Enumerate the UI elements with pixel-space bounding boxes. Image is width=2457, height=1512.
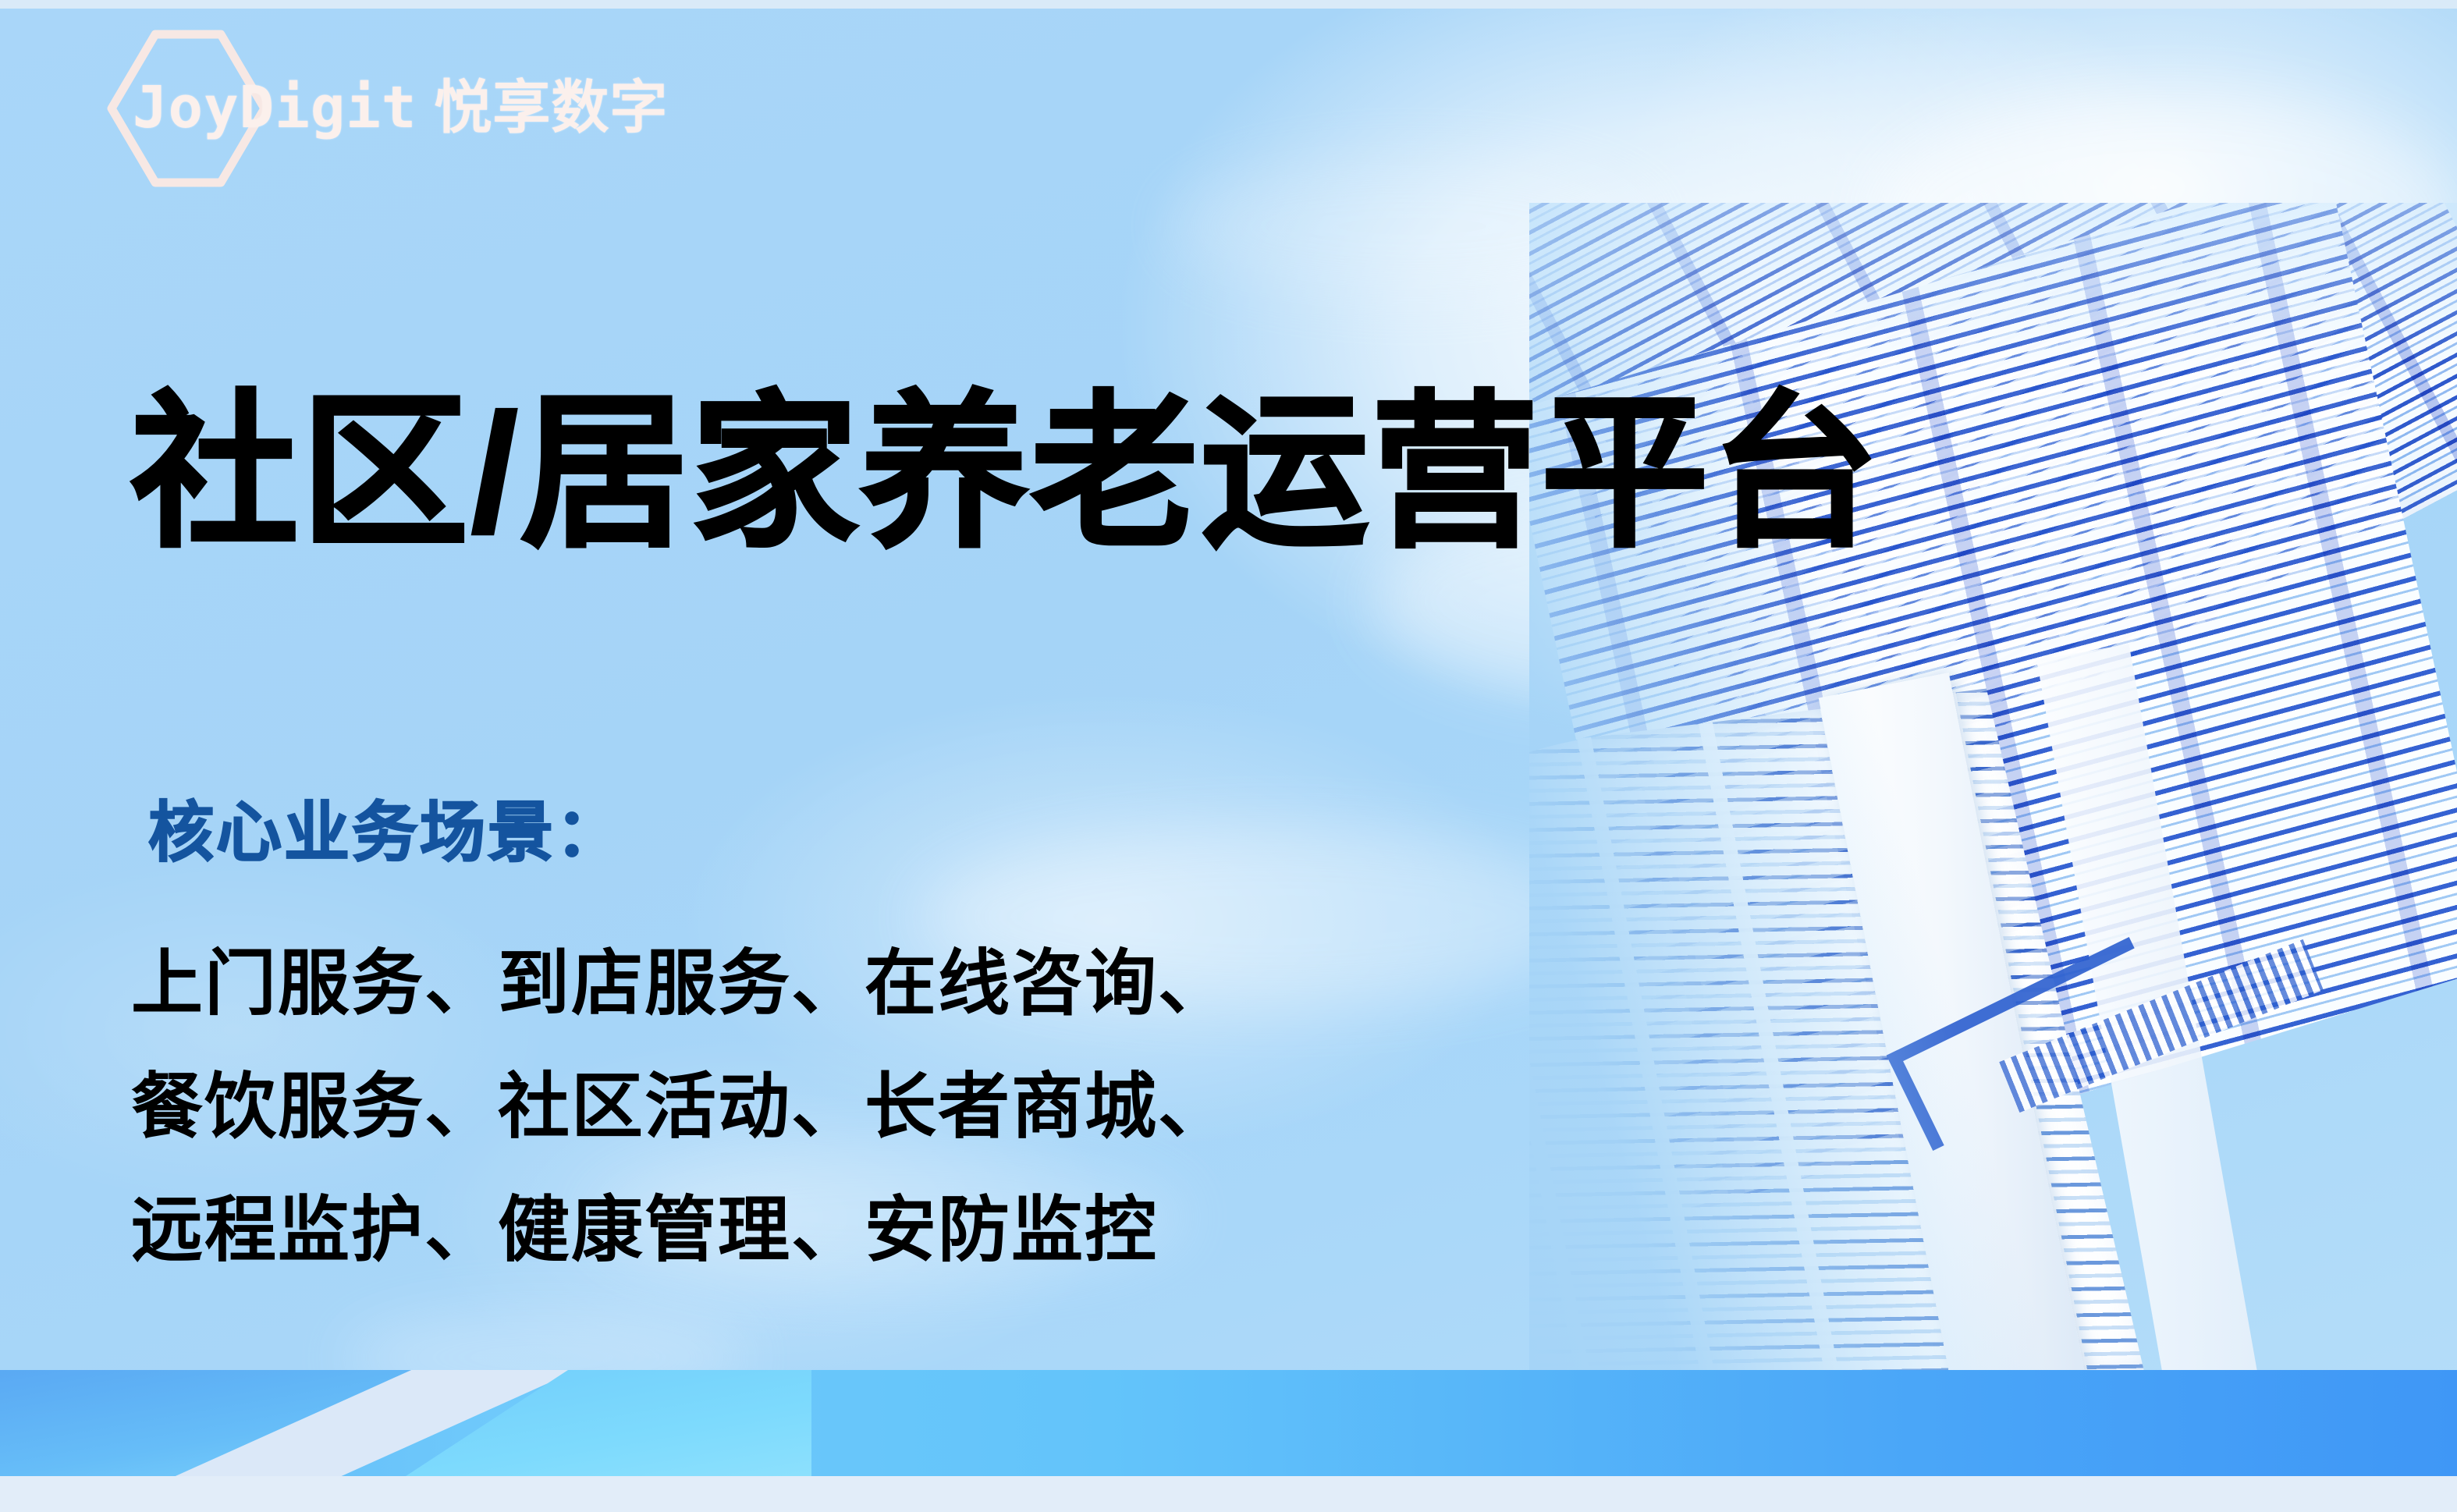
page-title: 社区/居家养老运营平台 bbox=[131, 383, 1881, 563]
scenario-line: 餐饮服务、社区活动、长者商城、 bbox=[131, 1045, 1231, 1169]
brand-wordmark: JoyDigit悦享数字 bbox=[133, 79, 668, 137]
top-edge-strip bbox=[0, 0, 2457, 9]
scenario-line: 远程监护、健康管理、安防监控 bbox=[131, 1169, 1231, 1292]
brand-wordmark-latin: JoyDigit bbox=[133, 74, 417, 141]
slide-canvas: JoyDigit悦享数字 社区/居家养老运营平台 核心业务场景： 上门服务、到店… bbox=[0, 0, 2457, 1512]
section-heading: 核心业务场景： bbox=[148, 780, 623, 875]
scenario-list: 上门服务、到店服务、在线咨询、 餐饮服务、社区活动、长者商城、 远程监护、健康管… bbox=[131, 922, 1231, 1293]
scenario-line: 上门服务、到店服务、在线咨询、 bbox=[131, 922, 1231, 1045]
skyscraper-image bbox=[1529, 203, 2457, 1373]
band-footer-strip bbox=[0, 1476, 2457, 1512]
bottom-decorative-band bbox=[0, 1370, 2457, 1512]
brand-logo: JoyDigit悦享数字 bbox=[133, 61, 668, 154]
brand-wordmark-chinese: 悦享数字 bbox=[434, 75, 668, 140]
